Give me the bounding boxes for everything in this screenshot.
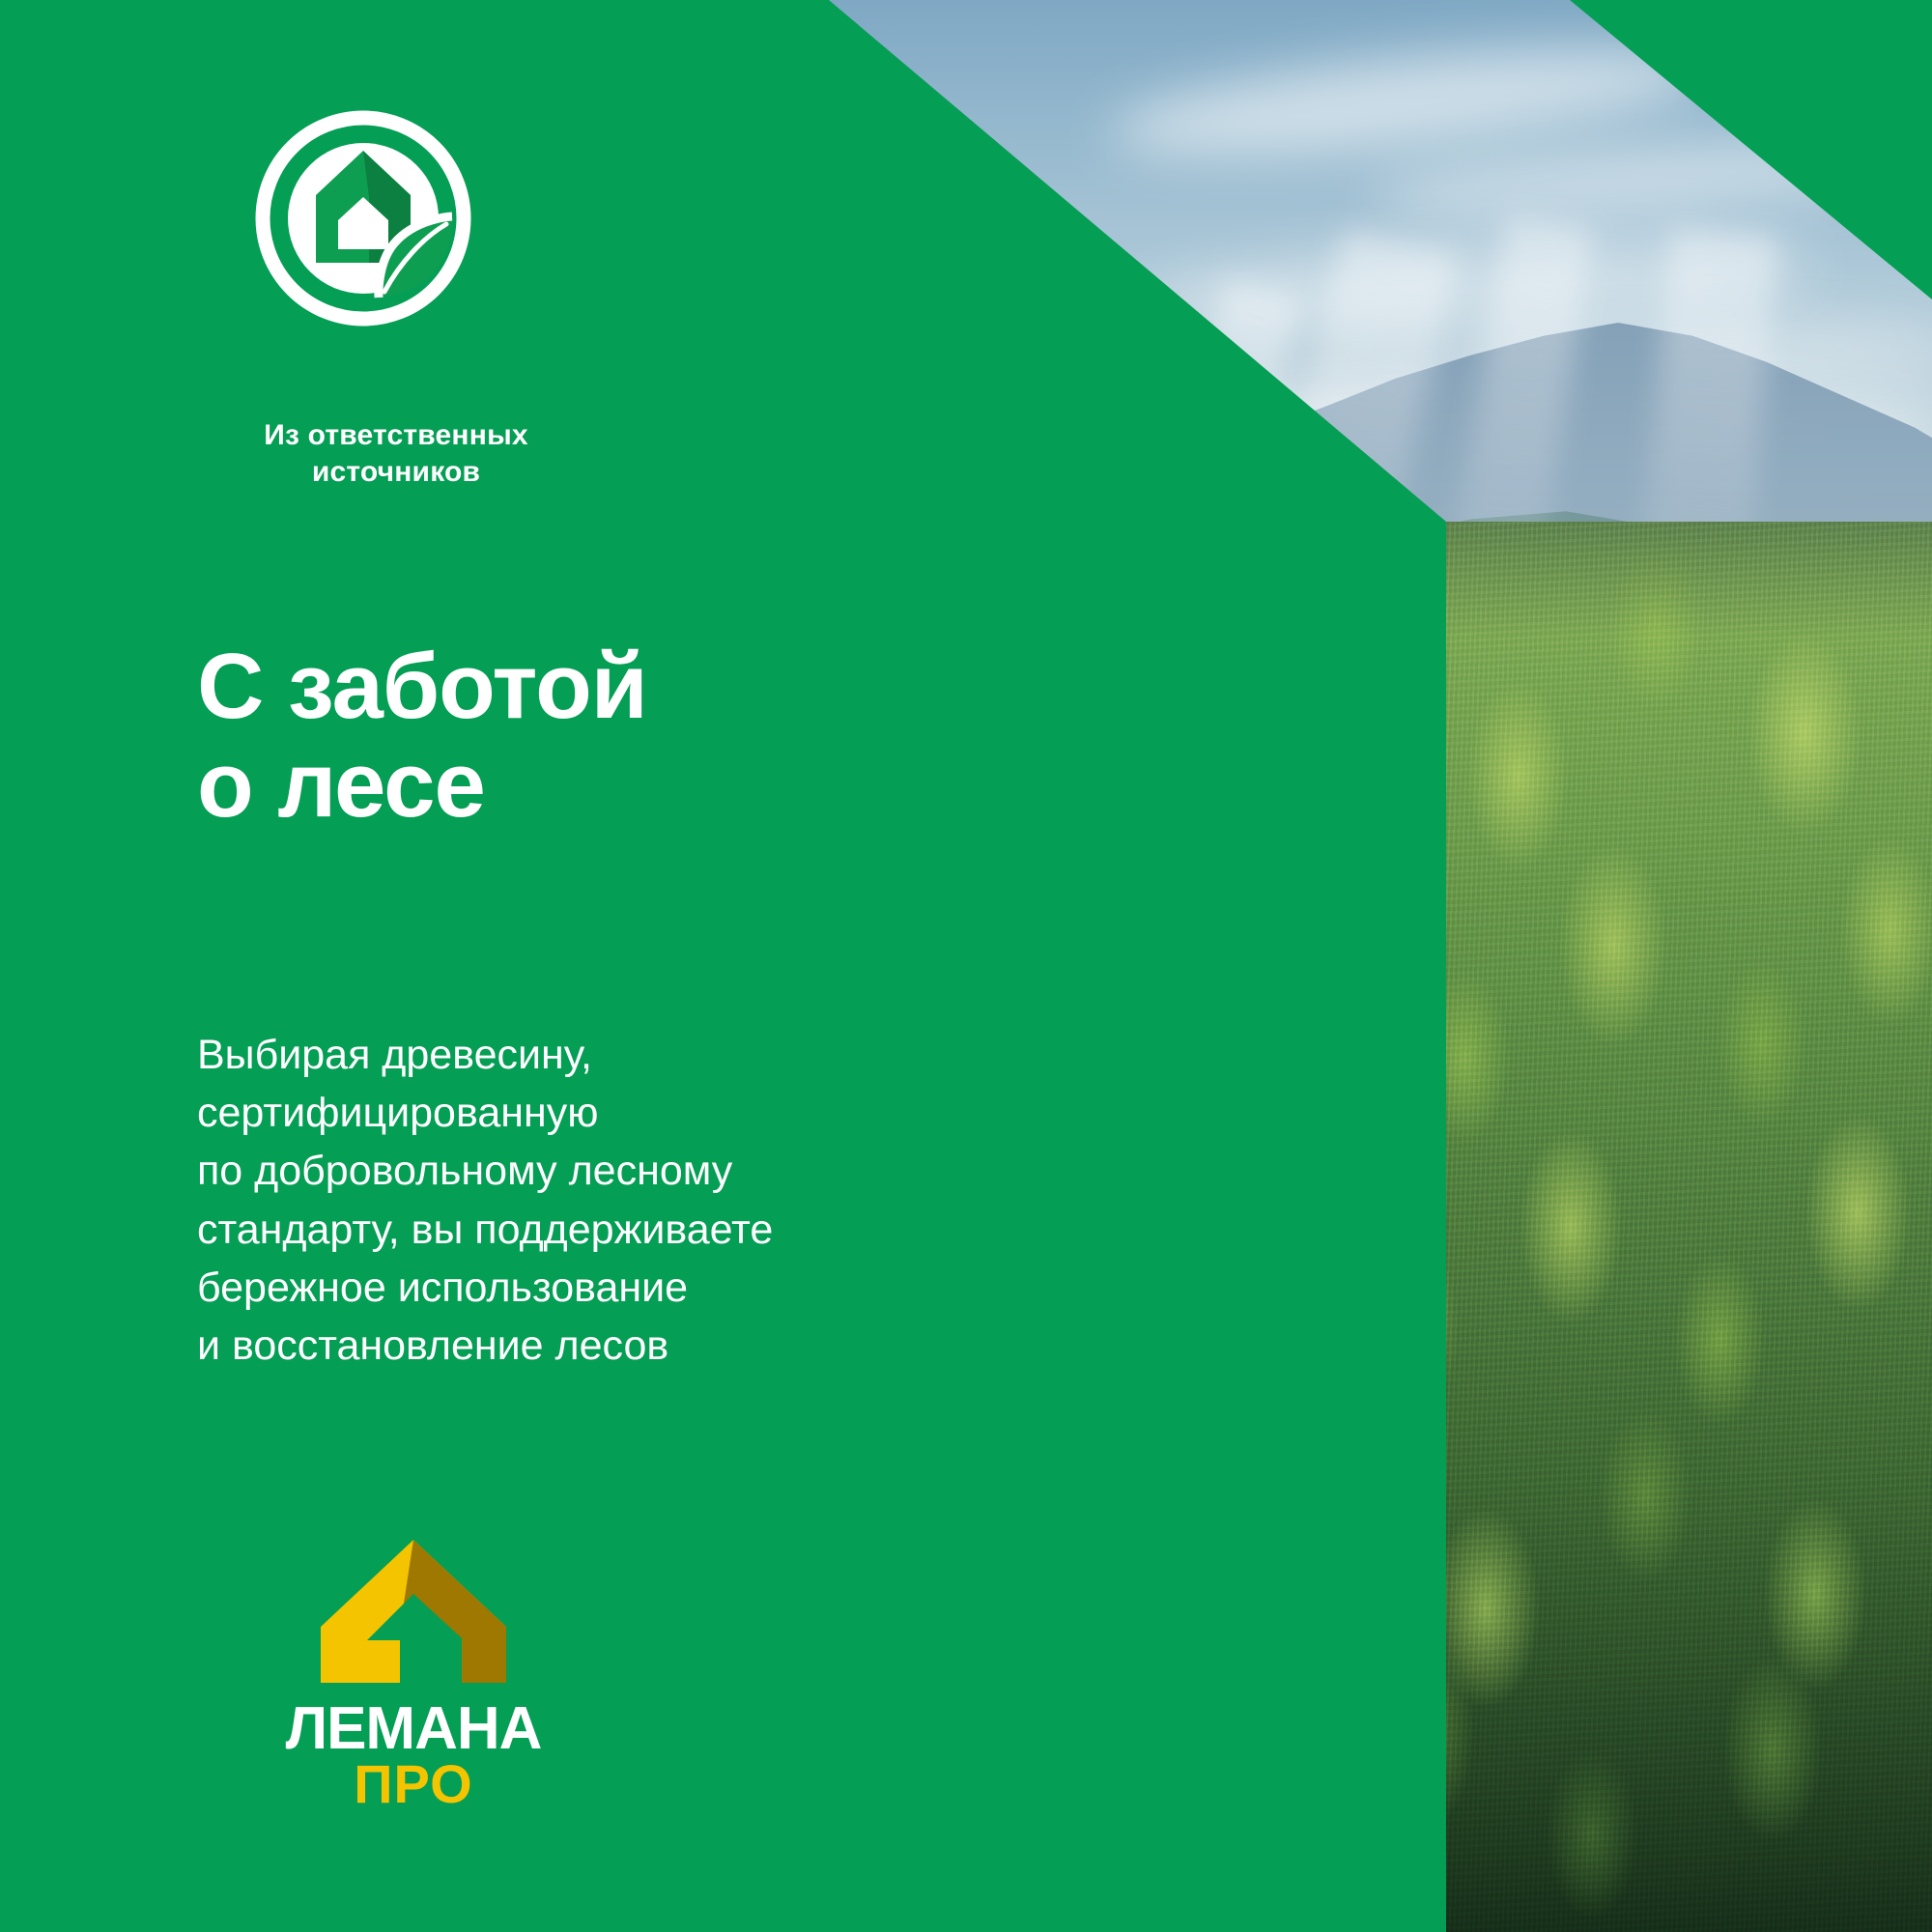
page-title: С заботой о лесе bbox=[197, 638, 1066, 835]
brand-name: ЛЕМАНА bbox=[286, 1695, 542, 1762]
brand-wordmark: ЛЕМАНА ПРО bbox=[220, 1694, 607, 1808]
lemana-house-icon bbox=[220, 1534, 607, 1689]
brand-logo: ЛЕМАНА ПРО bbox=[220, 1534, 607, 1808]
brand-suffix: ПРО bbox=[354, 1753, 472, 1808]
body-paragraph: Выбирая древесину, сертифицированную по … bbox=[197, 1026, 989, 1375]
eco-house-leaf-circle-logo bbox=[253, 108, 473, 328]
promo-banner: Из ответственных источников С заботой о … bbox=[0, 0, 1932, 1932]
eco-badge-caption: Из ответственных источников bbox=[193, 417, 599, 491]
